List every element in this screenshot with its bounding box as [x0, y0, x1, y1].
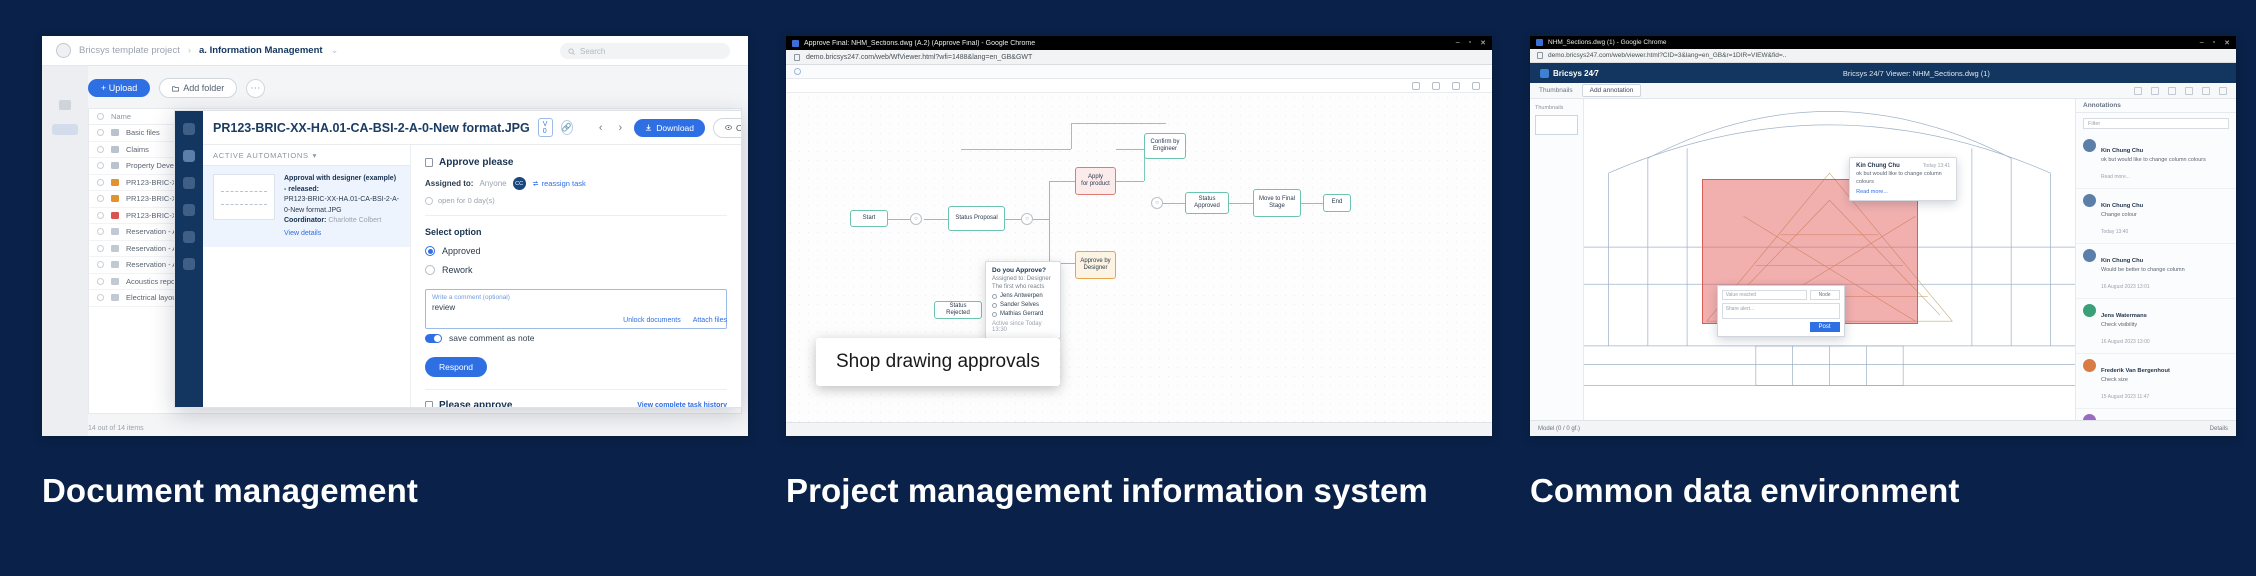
respond-button[interactable]: Respond: [425, 357, 487, 377]
item-count-label: 14 out of 14 items: [88, 425, 144, 432]
cde-window-buttons: – ▫ ✕: [2200, 39, 2230, 47]
modal-header: PR123-BRIC-XX-HA.01-CA-BSI-2-A-0-New for…: [203, 111, 741, 145]
radio-label-rework: Rework: [442, 265, 473, 275]
page-thumbnail[interactable]: [1535, 115, 1578, 135]
maximize-button[interactable]: ▫: [1469, 39, 1471, 47]
minimize-button[interactable]: –: [1456, 39, 1460, 47]
person-icon: [992, 294, 997, 299]
list-item[interactable]: Michael Olivares Not strong enough 12 Au…: [2076, 409, 2236, 420]
breadcrumb-separator: ›: [188, 45, 191, 56]
reply-node-select[interactable]: Node: [1810, 290, 1840, 300]
thumbnail-panel: Thumbnails: [1530, 99, 1584, 420]
open-for-label: open for 0 day(s): [438, 196, 495, 205]
search-input[interactable]: Search: [560, 43, 730, 59]
screenshot-document-management: Bricsys template project › a. Informatio…: [42, 36, 748, 436]
file-icon: [111, 179, 119, 186]
chrome-window: Approve Final: NHM_Sections.dwg (A.2) (A…: [786, 36, 1492, 436]
document-preview-modal: PR123-BRIC-XX-HA.01-CA-BSI-2-A-0-New for…: [174, 110, 742, 408]
window-title: Approve Final: NHM_Sections.dwg (A.2) (A…: [804, 40, 1035, 47]
link-icon[interactable]: 🔗: [561, 120, 573, 135]
annotation-author: Jens Watermans: [2101, 313, 2147, 319]
favicon-icon: [1536, 39, 1543, 46]
automations-header[interactable]: ACTIVE AUTOMATIONS ▾: [203, 145, 410, 165]
layers-icon[interactable]: [2202, 87, 2210, 95]
screenshot-cde: NHM_Sections.dwg (1) - Google Chrome – ▫…: [1530, 36, 2236, 436]
comment-value: review: [432, 303, 720, 312]
avatar: [2083, 304, 2096, 317]
annotation-date: 15 August 2023 11:47: [2101, 394, 2149, 400]
annotations-panel-title: Annotations: [2076, 99, 2236, 113]
card-document-management: Bricsys template project › a. Informatio…: [42, 36, 748, 576]
annotation-author: Frederik Van Bergenhout: [2101, 368, 2170, 374]
search-placeholder-text: Search: [580, 47, 605, 56]
url-text: demo.bricsys247.com/web/WfViewer.html?wf…: [806, 54, 1032, 61]
assigned-label: Assigned to:: [425, 179, 473, 188]
dms-breadcrumb-bar: Bricsys template project › a. Informatio…: [42, 36, 748, 66]
radio-option-approved[interactable]: Approved: [425, 246, 727, 256]
page-toolbar: [786, 65, 1492, 79]
add-folder-button[interactable]: Add folder: [159, 78, 237, 98]
annotation-date: Read more...: [2101, 174, 2130, 180]
breadcrumb-current[interactable]: a. Information Management: [199, 45, 323, 56]
radio-label-approved: Approved: [442, 246, 481, 256]
viewer-title: Bricsys 24/7 Viewer: NHM_Sections.dwg (1…: [1843, 69, 1990, 78]
card-caption: Project management information system: [786, 470, 1492, 511]
row-checkbox[interactable]: [97, 162, 104, 169]
list-item[interactable]: Jens Watermans Check visibility 16 Augus…: [2076, 299, 2236, 354]
attach-files-link[interactable]: Attach files: [693, 317, 727, 324]
node-start[interactable]: Start: [850, 210, 888, 227]
node-end[interactable]: End: [1323, 194, 1351, 212]
annotation-date: Today 13:40: [2101, 229, 2128, 235]
edge: [1033, 219, 1049, 220]
task2-title: Please approve: [439, 400, 512, 407]
chevron-down-icon[interactable]: ⌄: [331, 45, 339, 56]
list-item[interactable]: Kin Chung Chu Would be better to change …: [2076, 244, 2236, 299]
participant-name: Jens Antwerpen: [1000, 293, 1043, 299]
divider: [425, 215, 727, 216]
edge: [1116, 149, 1144, 150]
toggle-switch[interactable]: [425, 334, 442, 343]
assigned-row: Assigned to: Anyone CC reassign task: [425, 177, 727, 190]
edge: [924, 219, 948, 220]
brand-label: Bricsys 24∕7: [1553, 69, 1599, 78]
open-in-viewer-label: Open in viewer: [736, 123, 742, 133]
annotation-text: Jens Watermans Check visibility 16 Augus…: [2101, 304, 2150, 348]
annotation-date: 16 August 2023 13:01: [2101, 284, 2150, 290]
document-thumbnail: [213, 174, 275, 220]
edge: [1116, 181, 1144, 182]
annotation-text: Kin Chung Chu Would be better to change …: [2101, 249, 2185, 293]
annotation-body: ok but would like to change column colou…: [2101, 157, 2206, 165]
row-checkbox[interactable]: [97, 129, 104, 136]
open-in-viewer-button[interactable]: Open in viewer: [713, 118, 742, 138]
node-move-to-final-stage[interactable]: Move to Final Stage: [1253, 189, 1301, 217]
callout-tooltip: Shop drawing approvals: [816, 338, 1060, 386]
assigned-value: Anyone: [479, 179, 506, 188]
annotation-body: Check size: [2101, 377, 2170, 385]
permissions-icon[interactable]: [183, 258, 195, 270]
cde-titlebar: NHM_Sections.dwg (1) - Google Chrome – ▫…: [1530, 36, 2236, 49]
reassign-task-button[interactable]: reassign task: [532, 179, 586, 188]
window-buttons: – ▫ ✕: [1456, 39, 1486, 47]
annotation-body: Would be better to change column: [2101, 267, 2185, 275]
gateway-icon[interactable]: ○: [910, 213, 922, 225]
popover-participant[interactable]: Mathias Gerrard: [992, 311, 1054, 317]
popover-note: The first who reacts: [992, 284, 1054, 290]
annotation-text: Kin Chung Chu Change colour Today 13:40: [2101, 194, 2143, 238]
rail-selected-item[interactable]: [52, 124, 78, 135]
row-checkbox[interactable]: [97, 245, 104, 252]
second-task-section: Please approve View complete task histor…: [425, 389, 727, 407]
list-item[interactable]: Kin Chung Chu Change colour Today 13:40: [2076, 189, 2236, 244]
edge: [1071, 123, 1072, 149]
annotation-date: 16 August 2023 13:00: [2101, 339, 2150, 345]
brand-logo[interactable]: Bricsys 24∕7: [1540, 69, 1599, 78]
row-checkbox[interactable]: [97, 261, 104, 268]
task-popover[interactable]: Do you Approve? Assigned to: Designer Th…: [985, 261, 1061, 339]
minimize-button[interactable]: –: [2200, 39, 2204, 47]
person-icon: [992, 312, 997, 317]
popover-participant[interactable]: Jens Antwerpen: [992, 293, 1054, 299]
cde-window-title: NHM_Sections.dwg (1) - Google Chrome: [1548, 39, 1667, 46]
status-details-label[interactable]: Details: [2210, 426, 2228, 432]
project-avatar-icon: [56, 43, 71, 58]
favicon-icon: [792, 40, 799, 47]
dms-app: Bricsys template project › a. Informatio…: [42, 36, 748, 436]
card-caption: Common data environment: [1530, 470, 2236, 511]
select-all-checkbox[interactable]: [97, 113, 104, 120]
lock-icon: [425, 401, 433, 407]
download-icon: [645, 124, 652, 131]
automations-header-label: ACTIVE AUTOMATIONS: [213, 151, 309, 160]
active-automations-panel: ACTIVE AUTOMATIONS ▾ Approval with desig…: [203, 145, 411, 407]
edge: [1301, 203, 1323, 204]
cde-body: Thumbnails: [1530, 99, 2236, 420]
avatar: [2083, 194, 2096, 207]
close-button[interactable]: ✕: [1480, 39, 1486, 47]
prev-document-button[interactable]: ‹: [595, 122, 607, 134]
gateway-icon[interactable]: ○: [1151, 197, 1163, 209]
radio-icon[interactable]: [425, 246, 435, 256]
popover-assigned: Assigned to: Designer: [992, 276, 1054, 282]
file-icon: [111, 245, 119, 252]
edge: [1071, 123, 1166, 124]
print-icon[interactable]: [1472, 82, 1480, 90]
breadcrumb-root[interactable]: Bricsys template project: [79, 45, 180, 56]
popover-due: Active since Today 13:30: [992, 321, 1054, 333]
toggle-label: save comment as note: [449, 333, 535, 343]
card-pmis: Approve Final: NHM_Sections.dwg (A.2) (A…: [786, 36, 1492, 576]
download-label: Download: [656, 123, 694, 133]
row-checkbox[interactable]: [97, 278, 104, 285]
annotation-author: Kin Chung Chu: [2101, 148, 2143, 154]
annotation-reply-box[interactable]: Value reacted Node Share alert... Post: [1717, 285, 1845, 337]
edge: [1049, 219, 1050, 263]
list-item[interactable]: Frederik Van Bergenhout Check size 15 Au…: [2076, 354, 2236, 409]
file-icon: [111, 228, 119, 235]
reassign-label: reassign task: [542, 179, 586, 188]
callout-date: Today 13:41: [1923, 163, 1950, 169]
modal-main: ACTIVE AUTOMATIONS ▾ Approval with desig…: [203, 145, 741, 407]
annotation-text: Kin Chung Chu ok but would like to chang…: [2101, 139, 2206, 183]
status-model-label: Model (0 / 0 gf.): [1538, 426, 1580, 432]
cde-status-bar: Model (0 / 0 gf.) Details: [1530, 420, 2236, 436]
save-comment-toggle-row[interactable]: save comment as note: [425, 333, 727, 343]
annotation-author: Kin Chung Chu: [2101, 203, 2143, 209]
avatar: CC: [513, 177, 526, 190]
edge: [961, 149, 1071, 150]
dms-left-rail: [42, 66, 88, 436]
card-caption: Document management: [42, 470, 748, 511]
search-icon: [568, 48, 575, 55]
annotations-panel: Annotations Filter Kin Chung Chu ok but …: [2076, 99, 2236, 420]
row-checkbox[interactable]: [97, 179, 104, 186]
radio-option-rework[interactable]: Rework: [425, 265, 727, 275]
select-option-label: Select option: [425, 227, 727, 237]
unlock-documents-link[interactable]: Unlock documents: [623, 317, 681, 324]
callout-read-more-link[interactable]: Read more...: [1856, 189, 1950, 195]
address-bar[interactable]: demo.bricsys247.com/web/WfViewer.html?wf…: [786, 50, 1492, 65]
bricsys-mark-icon: [1540, 69, 1549, 78]
card-grid: Bricsys template project › a. Informatio…: [42, 36, 2214, 576]
eye-icon: [725, 124, 732, 131]
close-button[interactable]: ✕: [2224, 39, 2230, 47]
row-checkbox[interactable]: [97, 228, 104, 235]
coordinator-name: Charlotte Colbert: [328, 217, 381, 224]
file-icon: [111, 195, 119, 202]
fit-icon[interactable]: [1452, 82, 1460, 90]
node-status-proposal[interactable]: Status Proposal: [948, 206, 1005, 231]
automation-title: Approval with designer (example) - relea…: [284, 175, 396, 193]
cde-app: NHM_Sections.dwg (1) - Google Chrome – ▫…: [1530, 36, 2236, 436]
add-annotation-button[interactable]: Add annotation: [1582, 84, 1642, 97]
annotation-text: Frederik Van Bergenhout Check size 15 Au…: [2101, 359, 2170, 403]
card-cde: NHM_Sections.dwg (1) - Google Chrome – ▫…: [1530, 36, 2236, 576]
file-icon: [111, 278, 119, 285]
person-icon: [992, 303, 997, 308]
version-badge[interactable]: V 0: [538, 118, 553, 137]
avatar: [2083, 359, 2096, 372]
post-button[interactable]: Post: [1810, 322, 1840, 332]
measure-icon[interactable]: [2185, 87, 2193, 95]
callout-body: ok but would like to change column colou…: [1856, 171, 1950, 187]
zoom-out-icon[interactable]: [1432, 82, 1440, 90]
download-button[interactable]: Download: [634, 119, 705, 137]
chrome-titlebar: Approve Final: NHM_Sections.dwg (A.2) (A…: [786, 36, 1492, 50]
task2-history-link[interactable]: View complete task history: [637, 402, 727, 407]
clock-icon: [425, 197, 433, 205]
chevron-down-icon[interactable]: ▾: [313, 151, 317, 160]
settings-icon[interactable]: [2219, 87, 2227, 95]
avatar: [2083, 249, 2096, 262]
dms-action-bar: + Upload Add folder ⋯: [88, 78, 265, 98]
lock-icon: [794, 54, 800, 61]
filter-icon[interactable]: [59, 100, 71, 110]
coordinator-label: Coordinator:: [284, 217, 326, 224]
task2-title-row: Please approve View complete task histor…: [425, 400, 727, 407]
info-icon[interactable]: [183, 123, 195, 135]
avatar: [2083, 139, 2096, 152]
open-for-row: open for 0 day(s): [425, 196, 727, 205]
folder-icon: [111, 162, 119, 169]
thumbnail-panel-label: Thumbnails: [1535, 105, 1578, 111]
annotation-body: Check visibility: [2101, 322, 2150, 330]
upload-button[interactable]: + Upload: [88, 79, 150, 97]
folder-icon: [111, 129, 119, 136]
modal-content: PR123-BRIC-XX-HA.01-CA-BSI-2-A-0-New for…: [203, 111, 741, 407]
node-confirm-by-engineer[interactable]: Confirm by Engineer: [1144, 133, 1186, 159]
bpmn-toolbar: [786, 79, 1492, 93]
screenshot-pmis: Approve Final: NHM_Sections.dwg (A.2) (A…: [786, 36, 1492, 436]
automation-document: PR123-BRIC-XX-HA.01-CA-BSI-2-A-0-New for…: [284, 195, 400, 216]
comment-placeholder: Write a comment (optional): [432, 294, 720, 301]
reply-row: Value reacted Node: [1722, 290, 1840, 300]
cde-app-header: Bricsys 24∕7 Bricsys 24/7 Viewer: NHM_Se…: [1530, 63, 2236, 83]
gateway-icon[interactable]: ○: [1021, 213, 1033, 225]
zoom-in-icon[interactable]: [2134, 87, 2142, 95]
drawing-canvas[interactable]: Kin Chung Chu Today 13:41 ok but would l…: [1584, 99, 2076, 420]
document-links-row: Unlock documents Attach files: [425, 317, 727, 324]
file-icon: [111, 212, 119, 219]
notes-icon[interactable]: [183, 177, 195, 189]
next-document-button[interactable]: ›: [615, 122, 627, 134]
node-apply-for-product[interactable]: Apply for product: [1075, 167, 1116, 195]
row-checkbox[interactable]: [97, 294, 104, 301]
view-details-link[interactable]: View details: [284, 229, 400, 240]
participant-name: Mathias Gerrard: [1000, 311, 1043, 317]
cde-viewer-toolbar: Thumbnails Add annotation: [1530, 83, 2236, 99]
reply-value-input[interactable]: Value reacted: [1722, 290, 1807, 300]
pan-icon[interactable]: [2168, 87, 2176, 95]
list-item[interactable]: Kin Chung Chu ok but would like to chang…: [2076, 134, 2236, 189]
versions-icon[interactable]: [183, 231, 195, 243]
tasks-icon[interactable]: [183, 150, 195, 162]
maximize-button[interactable]: ▫: [2213, 39, 2215, 47]
zoom-out-icon[interactable]: [2151, 87, 2159, 95]
workflow-icon[interactable]: [183, 204, 195, 216]
row-checkbox[interactable]: [97, 146, 104, 153]
edge: [1049, 181, 1050, 219]
thumbnails-label[interactable]: Thumbnails: [1539, 87, 1573, 94]
help-icon[interactable]: [794, 68, 801, 75]
cde-url-text: demo.bricsys247.com/web/viewer.html?CID=…: [1548, 52, 1786, 59]
folder-icon: [111, 146, 119, 153]
callout-header: Kin Chung Chu Today 13:41: [1856, 163, 1950, 169]
automation-text: Approval with designer (example) - relea…: [284, 174, 400, 239]
modal-side-rail: [175, 111, 203, 407]
add-folder-label: Add folder: [183, 83, 224, 93]
callout-author: Kin Chung Chu: [1856, 163, 1900, 169]
folder-icon: [172, 85, 179, 92]
task-title-row: Approve please: [425, 157, 727, 168]
annotation-body: Change colour: [2101, 212, 2143, 220]
file-icon: [111, 294, 119, 301]
automation-card[interactable]: Approval with designer (example) - relea…: [203, 165, 410, 247]
annotation-filter-input[interactable]: Filter: [2083, 118, 2229, 129]
more-actions-button[interactable]: ⋯: [246, 79, 265, 98]
reply-textarea[interactable]: Share alert...: [1722, 303, 1840, 319]
reassign-icon: [532, 180, 539, 187]
edge: [1005, 219, 1021, 220]
annotation-author: Kin Chung Chu: [2101, 258, 2143, 264]
file-icon: [111, 261, 119, 268]
row-checkbox[interactable]: [97, 195, 104, 202]
zoom-in-icon[interactable]: [1412, 82, 1420, 90]
status-bar: [786, 422, 1492, 436]
participant-name: Sander Selves: [1000, 302, 1039, 308]
task-title: Approve please: [439, 157, 513, 168]
document-title: PR123-BRIC-XX-HA.01-CA-BSI-2-A-0-New for…: [213, 121, 530, 135]
edge: [1049, 181, 1075, 182]
row-checkbox[interactable]: [97, 212, 104, 219]
cde-address-bar[interactable]: demo.bricsys247.com/web/viewer.html?CID=…: [1530, 49, 2236, 63]
lock-icon: [1537, 52, 1543, 59]
node-approve-by-designer[interactable]: Approve by Designer: [1075, 251, 1116, 279]
popover-title: Do you Approve?: [992, 267, 1054, 274]
annotation-callout[interactable]: Kin Chung Chu Today 13:41 ok but would l…: [1849, 157, 1957, 201]
radio-icon[interactable]: [425, 265, 435, 275]
page-root: Bricsys template project › a. Informatio…: [0, 0, 2256, 576]
task-panel: Approve please Assigned to: Anyone CC: [411, 145, 741, 407]
lock-icon: [425, 158, 433, 167]
popover-participant[interactable]: Sander Selves: [992, 302, 1054, 308]
node-status-approved[interactable]: Status Approved: [1185, 192, 1229, 214]
node-status-rejected[interactable]: Status Rejected: [934, 301, 982, 319]
edge: [888, 219, 910, 220]
edge: [1229, 203, 1253, 204]
